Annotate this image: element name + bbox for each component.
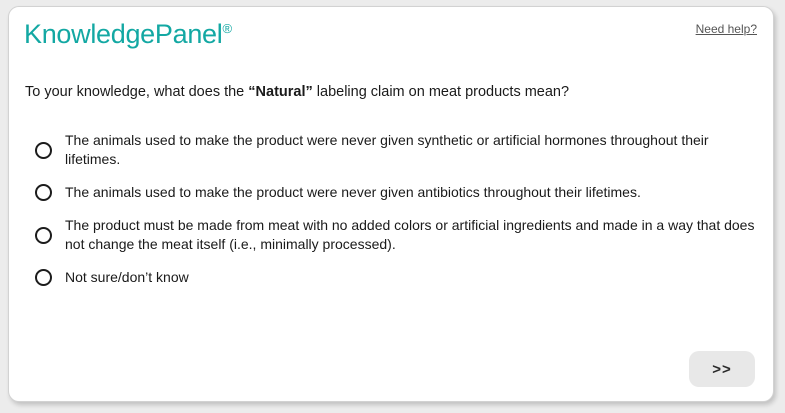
question-prefix: To your knowledge, what does the: [25, 84, 248, 100]
option-not-sure[interactable]: Not sure/don’t know: [35, 268, 757, 287]
question-suffix: labeling claim on meat products mean?: [313, 84, 569, 100]
registered-trademark-icon: ®: [222, 21, 231, 36]
brand-name: KnowledgePanel: [24, 19, 222, 49]
radio-button-icon[interactable]: [35, 184, 52, 201]
option-minimally-processed[interactable]: The product must be made from meat with …: [35, 216, 757, 254]
option-hormones[interactable]: The animals used to make the product wer…: [35, 131, 757, 169]
brand-logo: KnowledgePanel®: [24, 19, 232, 50]
survey-card: KnowledgePanel® Need help? To your knowl…: [8, 6, 774, 402]
card-header: KnowledgePanel® Need help?: [9, 7, 773, 59]
radio-button-icon[interactable]: [35, 142, 52, 159]
question-prompt: To your knowledge, what does the “Natura…: [25, 82, 753, 102]
option-label: The animals used to make the product wer…: [65, 131, 757, 169]
option-antibiotics[interactable]: The animals used to make the product wer…: [35, 183, 757, 202]
option-label: The product must be made from meat with …: [65, 216, 757, 254]
need-help-link[interactable]: Need help?: [696, 22, 757, 36]
radio-button-icon[interactable]: [35, 269, 52, 286]
answer-options-list: The animals used to make the product wer…: [35, 131, 757, 287]
radio-button-icon[interactable]: [35, 227, 52, 244]
next-button[interactable]: >>: [689, 351, 755, 387]
question-emphasis: “Natural”: [248, 84, 312, 100]
option-label: The animals used to make the product wer…: [65, 183, 641, 202]
option-label: Not sure/don’t know: [65, 268, 189, 287]
